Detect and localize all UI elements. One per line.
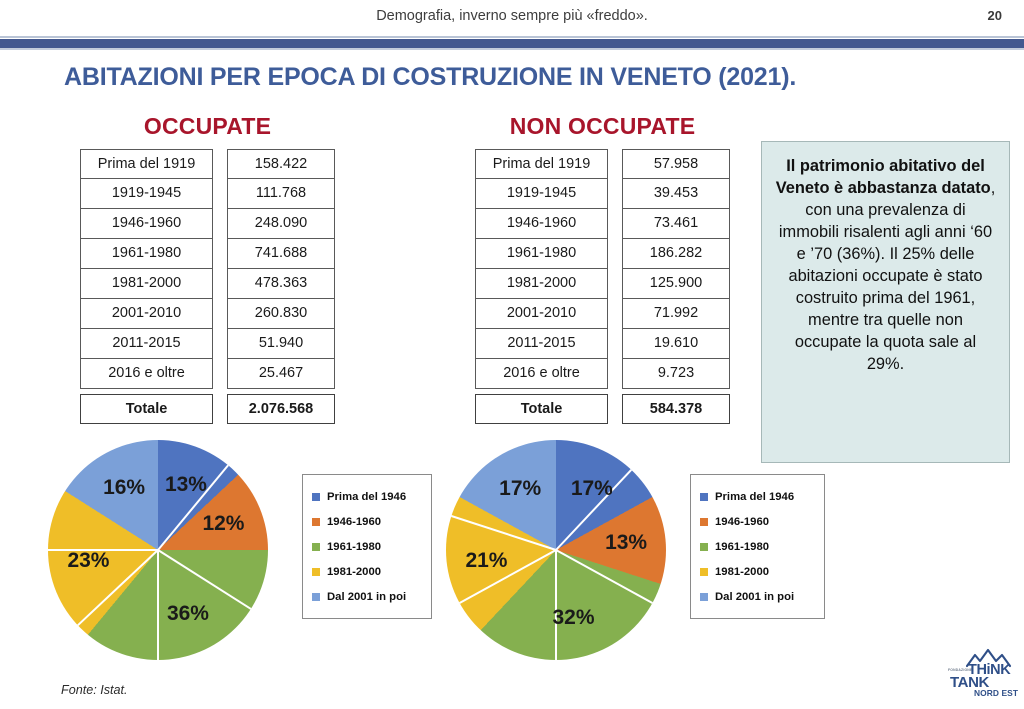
table-row: 1946-196073.461 bbox=[475, 209, 730, 239]
header-title: Demografia, inverno sempre più «freddo». bbox=[0, 8, 1024, 24]
legend-swatch-icon bbox=[312, 593, 320, 601]
table-occupate: Prima del 1919158.4221919-1945111.768194… bbox=[80, 149, 335, 424]
legend-item: Dal 2001 in poi bbox=[312, 584, 420, 609]
pie-slice-label: 17% bbox=[571, 477, 613, 501]
legend-item: Prima del 1946 bbox=[700, 484, 813, 509]
table-cell-period: 2011-2015 bbox=[80, 328, 213, 359]
table-cell-value: 51.940 bbox=[227, 328, 335, 359]
callout-rest-text: , con una prevalenza di immobili risalen… bbox=[779, 179, 995, 373]
pie-slice-label: 21% bbox=[465, 549, 507, 573]
table-row: 2011-201519.610 bbox=[475, 329, 730, 359]
legend-label: Dal 2001 in poi bbox=[715, 591, 794, 603]
legend-swatch-icon bbox=[312, 493, 320, 501]
pie-slice-separator bbox=[157, 549, 251, 610]
table-row: 1981-2000125.900 bbox=[475, 269, 730, 299]
table-total-label: Totale bbox=[475, 394, 608, 424]
legend-label: 1946-1960 bbox=[715, 516, 769, 528]
legend-swatch-icon bbox=[700, 593, 708, 601]
header-accent-bar bbox=[0, 39, 1024, 48]
table-row: 1961-1980186.282 bbox=[475, 239, 730, 269]
legend-item: 1946-1960 bbox=[312, 509, 420, 534]
table-cell-period: 1981-2000 bbox=[80, 268, 213, 299]
callout-bold-text: Il patrimonio abitativo del Veneto è abb… bbox=[776, 157, 991, 197]
table-cell-period: 1919-1945 bbox=[475, 178, 608, 209]
legend-label: Prima del 1946 bbox=[715, 491, 794, 503]
table-row: 1919-194539.453 bbox=[475, 179, 730, 209]
table-cell-period: Prima del 1919 bbox=[475, 149, 608, 179]
table-row: 2001-201071.992 bbox=[475, 299, 730, 329]
legend-non-occupate: Prima del 19461946-19601961-19801981-200… bbox=[690, 474, 825, 619]
table-cell-value: 478.363 bbox=[227, 268, 335, 299]
callout-box: Il patrimonio abitativo del Veneto è abb… bbox=[761, 141, 1010, 463]
legend-swatch-icon bbox=[312, 568, 320, 576]
table-row: 2016 e oltre9.723 bbox=[475, 359, 730, 389]
legend-label: Dal 2001 in poi bbox=[327, 591, 406, 603]
table-cell-value: 158.422 bbox=[227, 149, 335, 179]
table-row: Prima del 1919158.422 bbox=[80, 149, 335, 179]
table-heading-non-occupate: NON OCCUPATE bbox=[475, 113, 730, 140]
pie-slice-label: 13% bbox=[165, 473, 207, 497]
table-total-value: 584.378 bbox=[622, 394, 730, 424]
legend-occupate: Prima del 19461946-19601961-19801981-200… bbox=[302, 474, 432, 619]
table-row: 2016 e oltre25.467 bbox=[80, 359, 335, 389]
table-cell-period: 1946-1960 bbox=[80, 208, 213, 239]
table-cell-period: 1981-2000 bbox=[475, 268, 608, 299]
table-cell-value: 260.830 bbox=[227, 298, 335, 329]
page-number: 20 bbox=[988, 8, 1002, 23]
table-cell-value: 186.282 bbox=[622, 238, 730, 269]
legend-item: Dal 2001 in poi bbox=[700, 584, 813, 609]
pie-slice-separator bbox=[157, 550, 159, 660]
table-cell-period: 2001-2010 bbox=[475, 298, 608, 329]
table-block-non-occupate: NON OCCUPATE Prima del 191957.9581919-19… bbox=[475, 113, 730, 424]
legend-item: Prima del 1946 bbox=[312, 484, 420, 509]
table-row-total: Totale584.378 bbox=[475, 394, 730, 424]
legend-swatch-icon bbox=[700, 568, 708, 576]
legend-swatch-icon bbox=[312, 543, 320, 551]
legend-label: 1961-1980 bbox=[715, 541, 769, 553]
legend-label: Prima del 1946 bbox=[327, 491, 406, 503]
table-cell-period: Prima del 1919 bbox=[80, 149, 213, 179]
table-row: 1961-1980741.688 bbox=[80, 239, 335, 269]
table-cell-period: 1919-1945 bbox=[80, 178, 213, 209]
table-row: 1919-1945111.768 bbox=[80, 179, 335, 209]
table-cell-period: 1946-1960 bbox=[475, 208, 608, 239]
pie-slice-label: 32% bbox=[552, 606, 594, 630]
table-cell-value: 248.090 bbox=[227, 208, 335, 239]
legend-item: 1961-1980 bbox=[700, 534, 813, 559]
pie-slice-label: 12% bbox=[202, 512, 244, 536]
pie-slice-label: 23% bbox=[67, 549, 109, 573]
table-row: 1946-1960248.090 bbox=[80, 209, 335, 239]
pie-slice-label: 13% bbox=[605, 531, 647, 555]
legend-item: 1981-2000 bbox=[700, 559, 813, 584]
table-cell-value: 25.467 bbox=[227, 358, 335, 389]
table-non-occupate: Prima del 191957.9581919-194539.4531946-… bbox=[475, 149, 730, 424]
legend-label: 1961-1980 bbox=[327, 541, 381, 553]
table-row: 2001-2010260.830 bbox=[80, 299, 335, 329]
legend-swatch-icon bbox=[700, 543, 708, 551]
table-cell-value: 71.992 bbox=[622, 298, 730, 329]
think-tank-nord-est-logo: FONDAZIONE THiNK TANK NORD EST bbox=[948, 648, 1020, 700]
legend-label: 1981-2000 bbox=[327, 566, 381, 578]
table-cell-period: 1961-1980 bbox=[80, 238, 213, 269]
table-row: 1981-2000478.363 bbox=[80, 269, 335, 299]
legend-item: 1946-1960 bbox=[700, 509, 813, 534]
table-total-value: 2.076.568 bbox=[227, 394, 335, 424]
table-row-total: Totale2.076.568 bbox=[80, 394, 335, 424]
legend-swatch-icon bbox=[700, 518, 708, 526]
pie-slice-separator bbox=[556, 549, 653, 604]
pie-slice-label: 16% bbox=[103, 476, 145, 500]
legend-item: 1981-2000 bbox=[312, 559, 420, 584]
table-block-occupate: OCCUPATE Prima del 1919158.4221919-19451… bbox=[80, 113, 335, 424]
table-cell-period: 2001-2010 bbox=[80, 298, 213, 329]
table-cell-period: 2011-2015 bbox=[475, 328, 608, 359]
table-cell-value: 57.958 bbox=[622, 149, 730, 179]
logo-nordest-text: NORD EST bbox=[974, 688, 1018, 698]
pie-slice-label: 17% bbox=[499, 477, 541, 501]
header-rule-bottom bbox=[0, 48, 1024, 50]
page-title: ABITAZIONI PER EPOCA DI COSTRUZIONE IN V… bbox=[64, 63, 796, 92]
table-cell-value: 111.768 bbox=[227, 178, 335, 209]
legend-label: 1981-2000 bbox=[715, 566, 769, 578]
table-row: Prima del 191957.958 bbox=[475, 149, 730, 179]
table-cell-period: 1961-1980 bbox=[475, 238, 608, 269]
table-total-label: Totale bbox=[80, 394, 213, 424]
table-cell-value: 9.723 bbox=[622, 358, 730, 389]
slide-header: Demografia, inverno sempre più «freddo».… bbox=[0, 0, 1024, 38]
legend-label: 1946-1960 bbox=[327, 516, 381, 528]
pie-slice-separator bbox=[451, 515, 556, 551]
pie-slice-label: 36% bbox=[167, 602, 209, 626]
legend-item: 1961-1980 bbox=[312, 534, 420, 559]
table-row: 2011-201551.940 bbox=[80, 329, 335, 359]
header-rule-top bbox=[0, 36, 1024, 38]
table-cell-value: 125.900 bbox=[622, 268, 730, 299]
legend-swatch-icon bbox=[312, 518, 320, 526]
table-cell-value: 741.688 bbox=[227, 238, 335, 269]
table-cell-value: 39.453 bbox=[622, 178, 730, 209]
table-cell-period: 2016 e oltre bbox=[80, 358, 213, 389]
pie-slice-separator bbox=[555, 550, 557, 660]
table-cell-value: 73.461 bbox=[622, 208, 730, 239]
table-cell-period: 2016 e oltre bbox=[475, 358, 608, 389]
source-note: Fonte: Istat. bbox=[61, 683, 128, 697]
table-cell-value: 19.610 bbox=[622, 328, 730, 359]
table-heading-occupate: OCCUPATE bbox=[80, 113, 335, 140]
legend-swatch-icon bbox=[700, 493, 708, 501]
